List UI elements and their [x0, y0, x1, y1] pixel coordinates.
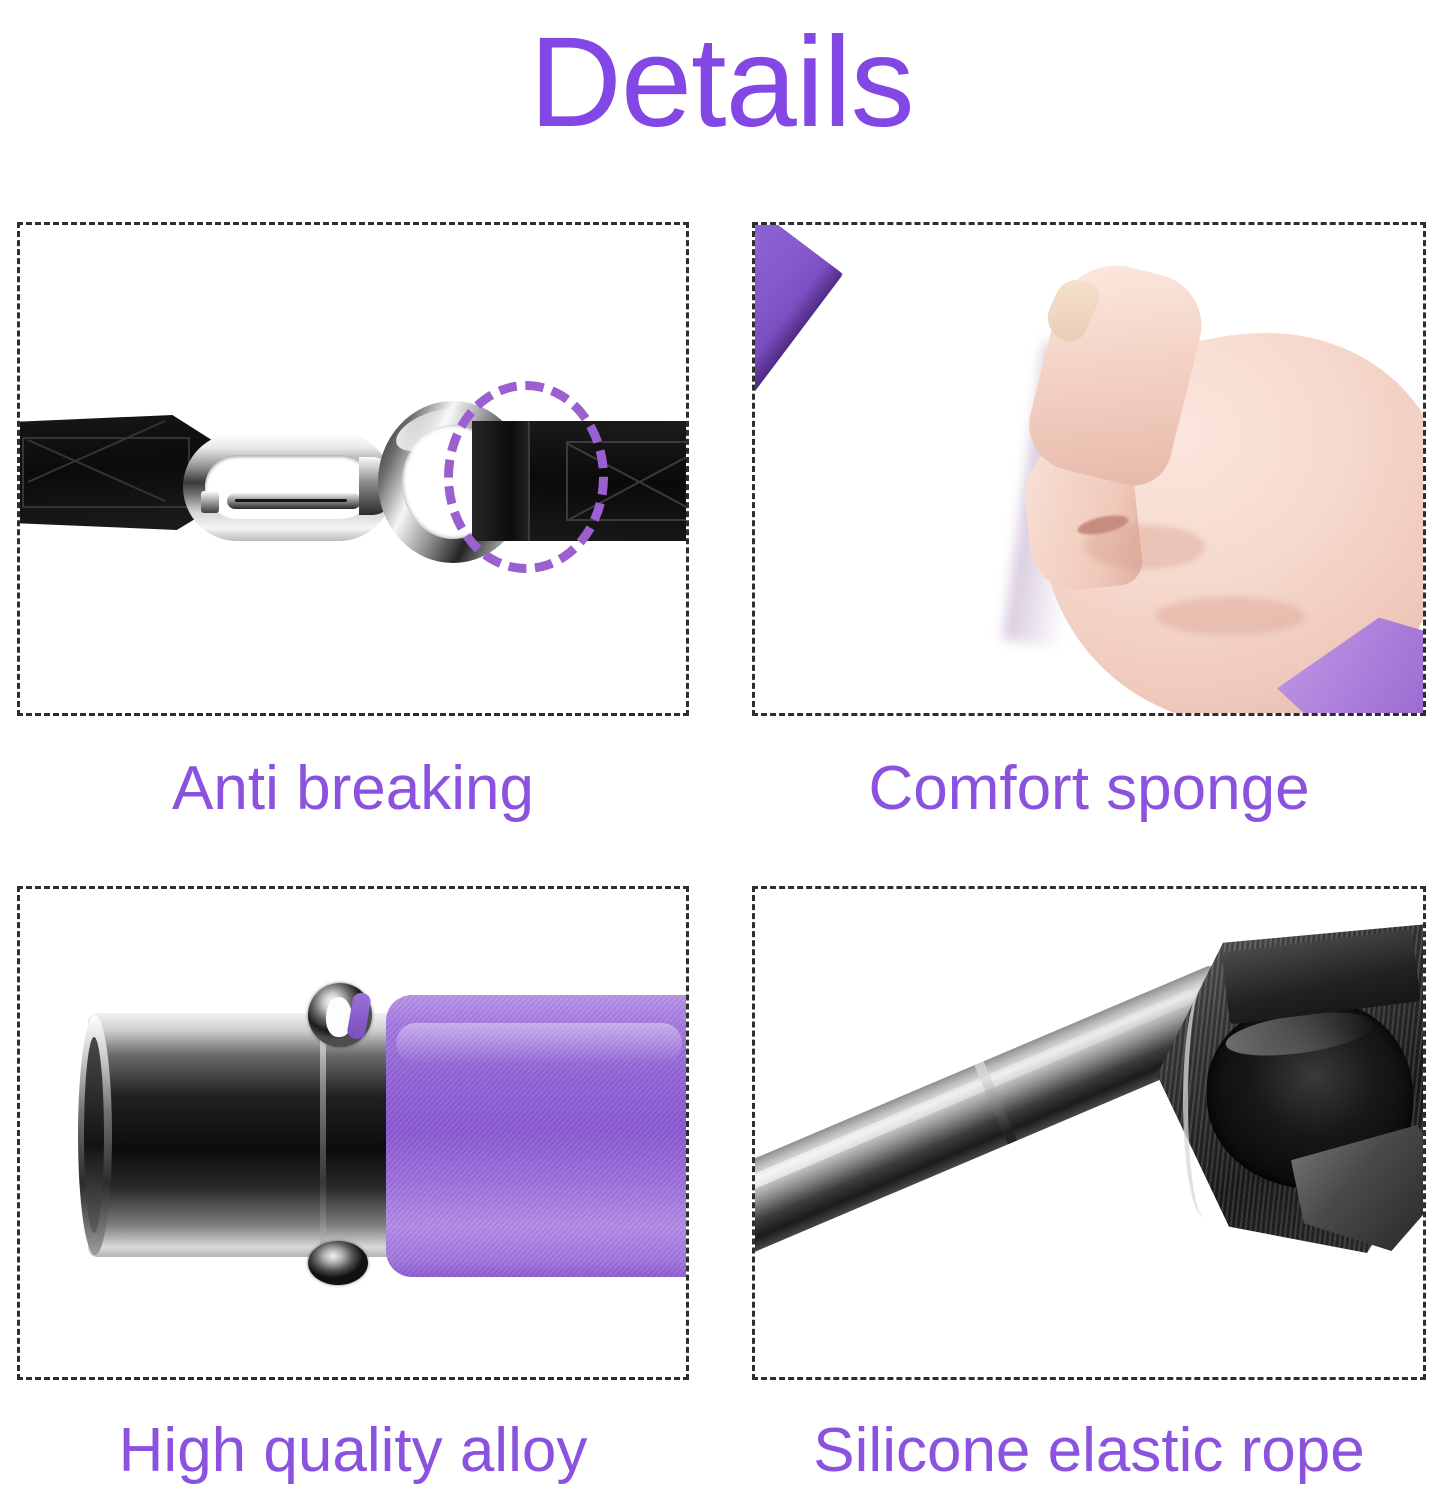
caption-anti-breaking: Anti breaking — [17, 752, 689, 826]
sponge-highlight — [752, 222, 767, 577]
purple-dashed-highlight-circle — [444, 381, 608, 573]
alloy-connector-tube — [88, 1013, 388, 1257]
hand-gripping-sponge-illustration — [755, 225, 1423, 713]
page-title: Details — [0, 8, 1443, 158]
foam-highlight — [396, 1023, 682, 1063]
carabiner-opening — [205, 455, 373, 519]
ankle-strap-rim — [1183, 985, 1225, 1217]
silicone-tube-ankle-strap-illustration — [755, 889, 1423, 1377]
caption-comfort-sponge: Comfort sponge — [752, 752, 1426, 826]
alloy-connector-illustration — [20, 889, 686, 1377]
silicone-elastic-tube — [752, 964, 1247, 1262]
carabiner-image — [183, 433, 393, 541]
stitch-line — [28, 439, 166, 502]
end-cap-bore — [84, 1037, 104, 1233]
alloy-seam — [320, 1015, 326, 1255]
carabiner-sleeve — [201, 491, 219, 513]
knuckle-shading — [1155, 597, 1305, 635]
caption-silicone-elastic-rope: Silicone elastic rope — [748, 1414, 1430, 1488]
panel-comfort-sponge — [752, 222, 1426, 716]
stitch-line — [28, 420, 166, 483]
purple-foam-grip — [386, 995, 689, 1277]
caption-high-quality-alloy: High quality alloy — [10, 1414, 696, 1488]
tube-highlight — [752, 988, 1197, 1204]
purple-sponge-handle-image — [752, 222, 843, 716]
panel-high-quality-alloy — [17, 886, 689, 1380]
panel-anti-breaking — [17, 222, 689, 716]
sponge-shadow-edge — [752, 262, 843, 716]
panel-silicone-elastic-rope — [752, 886, 1426, 1380]
carabiner-gate-seam — [235, 499, 347, 502]
chrome-rivet-bottom — [308, 1241, 368, 1285]
details-infographic: Details — [0, 0, 1443, 1500]
carabiner-oring-illustration — [20, 225, 686, 713]
